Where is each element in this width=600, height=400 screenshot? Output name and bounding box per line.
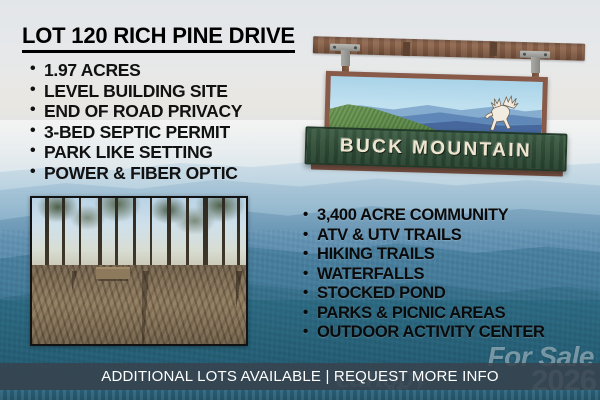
beam-notch [403, 42, 410, 56]
list-item: PARK LIKE SETTING [28, 142, 298, 163]
banner-text: ADDITIONAL LOTS AVAILABLE | REQUEST MORE… [101, 368, 498, 385]
list-item: HIKING TRAILS [302, 245, 600, 265]
sign-name-text: BUCK MOUNTAIN [340, 135, 533, 162]
list-item: POWER & FIBER OPTIC [28, 163, 298, 184]
photo-tree-shadows [32, 271, 246, 344]
page-title: LOT 120 RICH PINE DRIVE [22, 23, 295, 53]
hanger-plate [531, 57, 540, 73]
list-item: WATERFALLS [302, 265, 600, 285]
list-item: ATV & UTV TRAILS [302, 226, 600, 246]
hanger-plate [341, 50, 350, 66]
beam-notch [490, 42, 497, 56]
community-amenity-list: 3,400 ACRE COMMUNITY ATV & UTV TRAILS HI… [302, 206, 600, 343]
call-to-action-banner[interactable]: ADDITIONAL LOTS AVAILABLE | REQUEST MORE… [0, 363, 600, 390]
listing-flyer: LOT 120 RICH PINE DRIVE 1.97 ACRES LEVEL… [0, 0, 600, 400]
list-item: OUTDOOR ACTIVITY CENTER [302, 323, 600, 343]
picnic-table [96, 267, 130, 279]
lot-feature-list: 1.97 ACRES LEVEL BUILDING SITE END OF RO… [28, 60, 298, 183]
list-item: END OF ROAD PRIVACY [28, 101, 298, 122]
list-item: STOCKED POND [302, 284, 600, 304]
property-photo [30, 196, 248, 346]
bottom-edge-strip [0, 390, 600, 400]
list-item: 3,400 ACRE COMMUNITY [302, 206, 600, 226]
community-entrance-sign: BUCK MOUNTAIN [305, 34, 590, 184]
list-item: PARKS & PICNIC AREAS [302, 304, 600, 324]
list-item: 1.97 ACRES [28, 60, 298, 81]
sign-nameplate: BUCK MOUNTAIN [305, 126, 568, 171]
list-item: LEVEL BUILDING SITE [28, 81, 298, 102]
list-item: 3-BED SEPTIC PERMIT [28, 122, 298, 143]
